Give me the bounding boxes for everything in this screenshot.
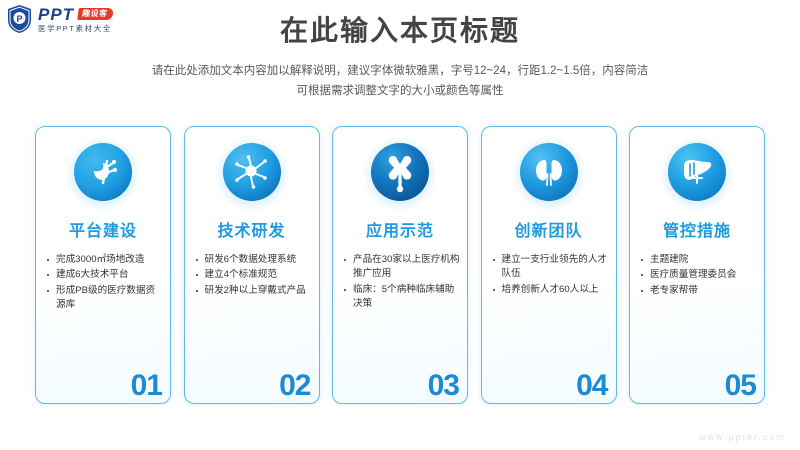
bone-icon bbox=[371, 143, 429, 201]
list-item: 建立一支行业领先的人才队伍 bbox=[502, 253, 610, 282]
gallbladder-icon bbox=[74, 143, 132, 201]
card-title: 技术研发 bbox=[185, 217, 319, 241]
page-title: 在此输入本页标题 bbox=[0, 14, 800, 48]
list-item: 建成6大技术平台 bbox=[56, 268, 164, 282]
list-item: 培养创新人才60人以上 bbox=[502, 283, 610, 297]
card-number: 05 bbox=[725, 371, 756, 401]
card-number: 04 bbox=[576, 371, 607, 401]
page-subtitle-line-1: 请在此处添加文本内容加以解释说明，建议字体微软雅黑，字号12~24，行距1.2~… bbox=[0, 62, 800, 82]
card-title: 平台建设 bbox=[36, 217, 170, 241]
page-subtitle: 请在此处添加文本内容加以解释说明，建议字体微软雅黑，字号12~24，行距1.2~… bbox=[0, 62, 800, 101]
card-title: 创新团队 bbox=[482, 217, 616, 241]
card-title: 管控措施 bbox=[630, 217, 764, 241]
card-item[interactable]: 技术研发 研发6个数据处理系统 建立4个标准规范 研发2种以上穿戴式产品 02 bbox=[184, 126, 320, 404]
card-title: 应用示范 bbox=[333, 217, 467, 241]
site-watermark: www.ppter.com bbox=[699, 432, 786, 442]
page-subtitle-line-2: 可根据需求调整文字的大小或颜色等属性 bbox=[0, 82, 800, 102]
card-bullets: 主题建院 医疗质量管理委员会 老专家帮带 bbox=[638, 253, 758, 299]
list-item: 形成PB级的医疗数据资源库 bbox=[56, 284, 164, 313]
card-list: 平台建设 完成3000㎡场地改造 建成6大技术平台 形成PB级的医疗数据资源库 … bbox=[35, 126, 765, 404]
list-item: 医疗质量管理委员会 bbox=[650, 268, 758, 282]
list-item: 研发2种以上穿戴式产品 bbox=[205, 284, 313, 298]
card-bullets: 完成3000㎡场地改造 建成6大技术平台 形成PB级的医疗数据资源库 bbox=[44, 253, 164, 314]
neuron-icon bbox=[223, 143, 281, 201]
card-bullets: 研发6个数据处理系统 建立4个标准规范 研发2种以上穿戴式产品 bbox=[193, 253, 313, 299]
card-number: 03 bbox=[428, 371, 459, 401]
list-item: 产品在30家以上医疗机构推广应用 bbox=[353, 253, 461, 282]
list-item: 主题建院 bbox=[650, 253, 758, 267]
card-bullets: 建立一支行业领先的人才队伍 培养创新人才60人以上 bbox=[490, 253, 610, 298]
card-item[interactable]: 平台建设 完成3000㎡场地改造 建成6大技术平台 形成PB级的医疗数据资源库 … bbox=[35, 126, 171, 404]
list-item: 老专家帮带 bbox=[650, 284, 758, 298]
kidney-icon bbox=[520, 143, 578, 201]
list-item: 临床：5个病种临床辅助决策 bbox=[353, 283, 461, 312]
card-number: 01 bbox=[131, 371, 162, 401]
card-item[interactable]: 管控措施 主题建院 医疗质量管理委员会 老专家帮带 05 bbox=[629, 126, 765, 404]
list-item: 完成3000㎡场地改造 bbox=[56, 253, 164, 267]
card-number: 02 bbox=[279, 371, 310, 401]
list-item: 研发6个数据处理系统 bbox=[205, 253, 313, 267]
card-item[interactable]: 创新团队 建立一支行业领先的人才队伍 培养创新人才60人以上 04 bbox=[481, 126, 617, 404]
list-item: 建立4个标准规范 bbox=[205, 268, 313, 282]
liver-icon bbox=[668, 143, 726, 201]
card-item[interactable]: 应用示范 产品在30家以上医疗机构推广应用 临床：5个病种临床辅助决策 03 bbox=[332, 126, 468, 404]
card-bullets: 产品在30家以上医疗机构推广应用 临床：5个病种临床辅助决策 bbox=[341, 253, 461, 313]
